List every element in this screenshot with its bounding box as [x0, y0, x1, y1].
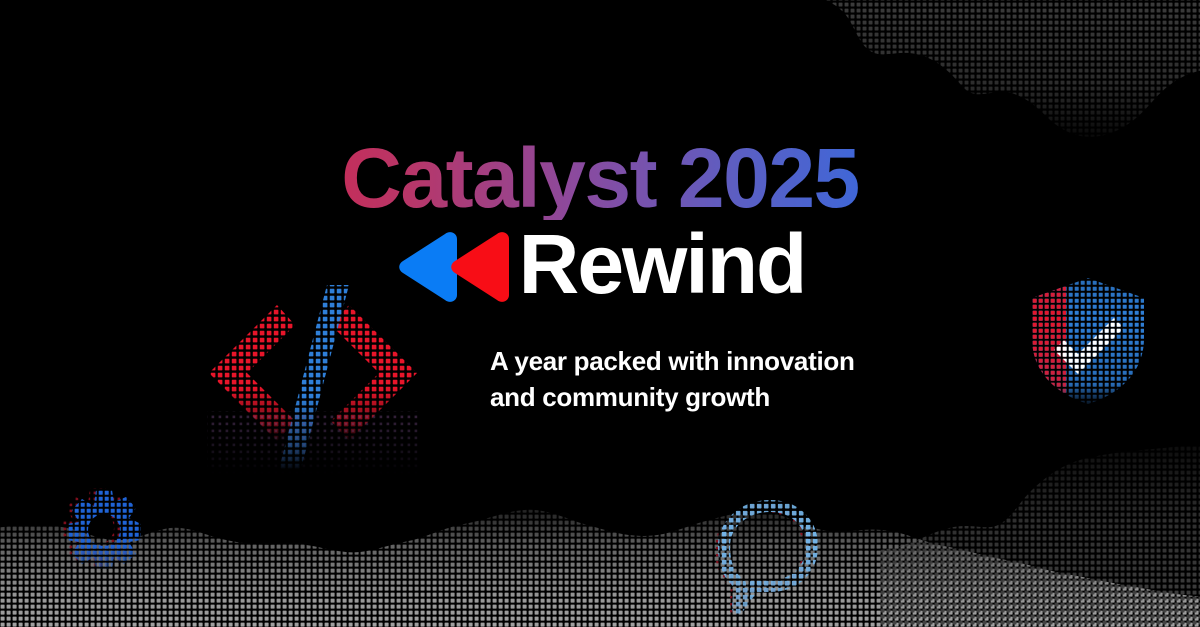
hero-subtitle: A year packed with innovation and commun…: [490, 344, 960, 416]
rewind-icon: [395, 231, 513, 303]
subtitle-line-1: A year packed with innovation: [490, 344, 960, 380]
hero-banner: Catalyst 2025 Rewind A year packed with …: [0, 0, 1200, 627]
rewind-headline-row: Rewind: [0, 222, 1200, 306]
rewind-wordmark: Rewind: [519, 222, 806, 306]
subtitle-line-2: and community growth: [490, 380, 960, 416]
page-title: Catalyst 2025: [0, 136, 1200, 220]
hero-content: Catalyst 2025 Rewind A year packed with …: [0, 0, 1200, 627]
